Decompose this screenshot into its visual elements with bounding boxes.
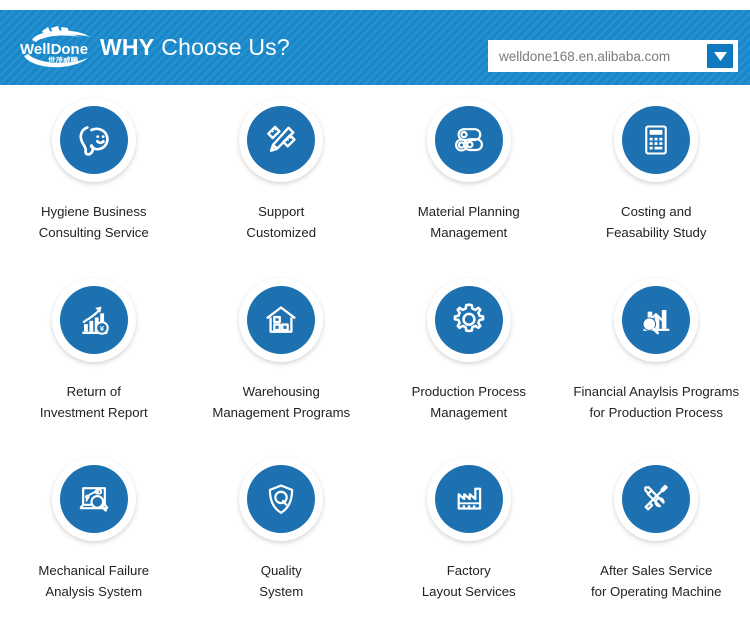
chevron-down-icon [714, 52, 727, 61]
service-icon-wrap [614, 457, 698, 541]
service-label: Costing and Feasability Study [606, 201, 706, 243]
service-label: Financial Anaylsis Programs for Producti… [573, 381, 739, 423]
service-label: After Sales Service for Operating Machin… [591, 560, 721, 602]
shield-q-icon [262, 480, 300, 518]
service-icon-disc [247, 465, 315, 533]
warehouse-boxes-icon [261, 300, 301, 340]
calculator-icon [638, 122, 674, 158]
page-title-strong: WHY [100, 34, 154, 61]
globe-swoosh-logo: WellDone 世茂威腾 [18, 24, 100, 72]
service-icon-disc: ¥ [60, 286, 128, 354]
service-icon-disc [435, 286, 503, 354]
phone-support-smile-icon [74, 120, 114, 160]
service-icon-wrap [52, 457, 136, 541]
service-icon-disc [435, 106, 503, 174]
store-url-box[interactable] [488, 40, 738, 72]
service-label: Warehousing Management Programs [212, 381, 350, 423]
service-card-mechanical-failure-analysis[interactable]: Mechanical Failure Analysis System [0, 444, 188, 624]
gear-icon [448, 299, 490, 341]
service-label: Factory Layout Services [422, 560, 516, 602]
service-icon-wrap [239, 457, 323, 541]
service-icon-disc [622, 286, 690, 354]
factory-icon [450, 480, 488, 518]
service-icon-wrap [239, 278, 323, 362]
growth-chart-currency-icon: ¥ [74, 300, 114, 340]
service-card-return-of-investment[interactable]: ¥ Return of Investment Report [0, 265, 188, 445]
services-grid: Hygiene Business Consulting Service [0, 85, 750, 624]
service-icon-wrap: ¥ [52, 278, 136, 362]
service-label: Hygiene Business Consulting Service [39, 201, 149, 243]
service-card-financial-analysis[interactable]: Financial Anaylsis Programs for Producti… [563, 265, 750, 445]
service-icon-disc [247, 106, 315, 174]
service-icon-wrap [614, 278, 698, 362]
chart-magnifier-icon [636, 300, 676, 340]
service-icon-wrap [427, 278, 511, 362]
page-root: WellDone 世茂威腾 WHY Choose Us? [0, 0, 750, 624]
service-label: Mechanical Failure Analysis System [38, 560, 149, 602]
url-dropdown-button[interactable] [707, 44, 733, 68]
svg-text:世茂威腾: 世茂威腾 [48, 55, 78, 65]
page-title-rest: Choose Us? [161, 34, 290, 61]
service-icon-disc [622, 106, 690, 174]
service-card-after-sales-service[interactable]: After Sales Service for Operating Machin… [563, 444, 750, 624]
material-rolls-icon [449, 120, 489, 160]
service-card-costing-feasability[interactable]: Costing and Feasability Study [563, 85, 750, 265]
service-label: Quality System [259, 560, 303, 602]
service-card-support-customized[interactable]: Support Customized [188, 85, 376, 265]
service-card-warehousing-management[interactable]: Warehousing Management Programs [188, 265, 376, 445]
service-icon-wrap [239, 98, 323, 182]
page-header: WellDone 世茂威腾 WHY Choose Us? [0, 10, 750, 85]
service-icon-disc [622, 465, 690, 533]
service-icon-wrap [52, 98, 136, 182]
wrench-screwdriver-icon [637, 480, 675, 518]
service-card-quality-system[interactable]: Quality System [188, 444, 376, 624]
service-card-production-process[interactable]: Production Process Management [375, 265, 563, 445]
service-card-material-planning[interactable]: Material Planning Management [375, 85, 563, 265]
service-icon-disc [435, 465, 503, 533]
service-label: Material Planning Management [418, 201, 520, 243]
service-icon-wrap [427, 98, 511, 182]
service-icon-disc [60, 106, 128, 174]
service-icon-disc [60, 465, 128, 533]
brand-logo[interactable]: WellDone 世茂威腾 [18, 24, 100, 72]
service-card-hygiene-business-consulting[interactable]: Hygiene Business Consulting Service [0, 85, 188, 265]
service-card-factory-layout[interactable]: Factory Layout Services [375, 444, 563, 624]
laptop-robot-arm-magnifier-icon [74, 479, 114, 519]
service-label: Production Process Management [412, 381, 526, 423]
service-icon-wrap [614, 98, 698, 182]
store-url-input[interactable] [499, 49, 699, 64]
service-icon-disc [247, 286, 315, 354]
service-label: Support Customized [246, 201, 316, 243]
pencil-ruler-icon [262, 121, 300, 159]
service-icon-wrap [427, 457, 511, 541]
service-label: Return of Investment Report [40, 381, 148, 423]
page-title: WHY Choose Us? [100, 10, 290, 85]
